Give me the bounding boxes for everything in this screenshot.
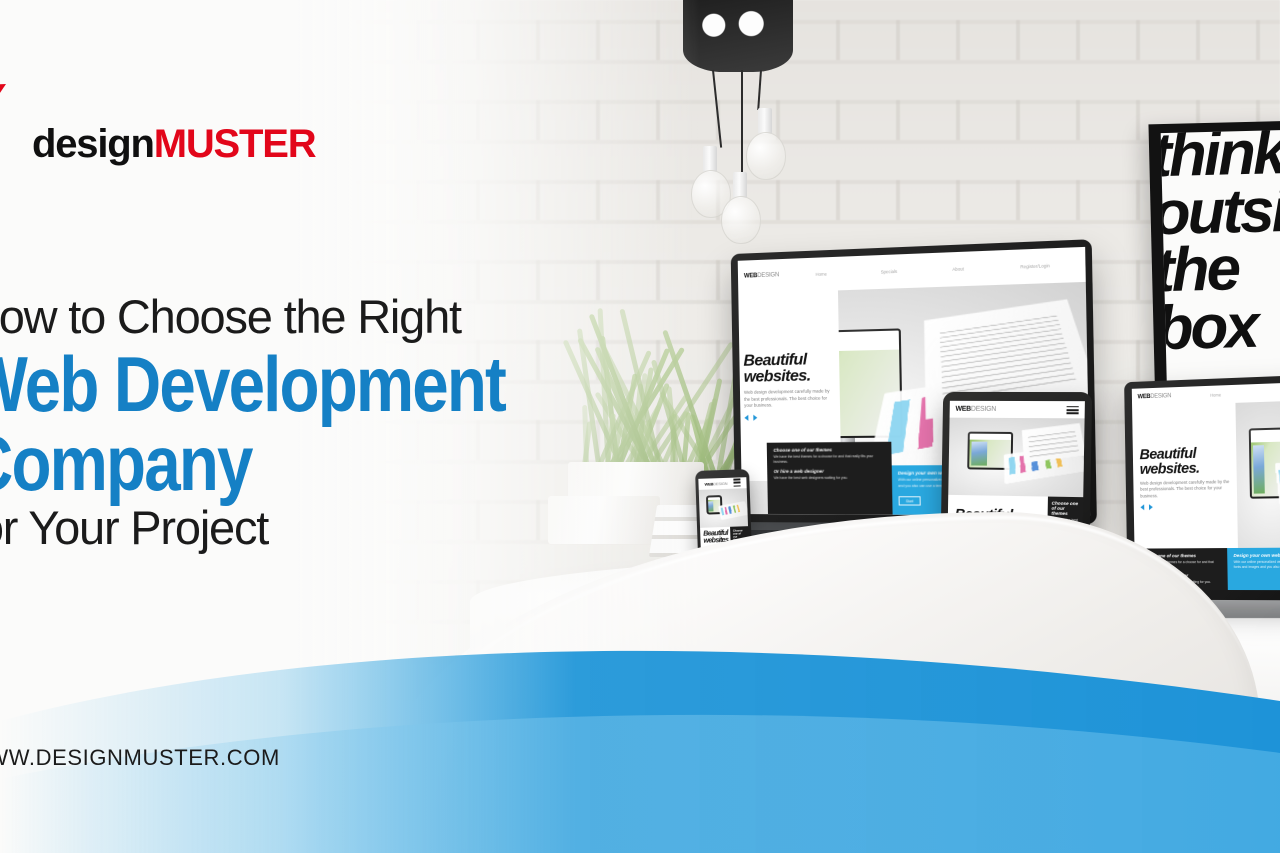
mockup-hero-image <box>1235 400 1280 548</box>
panel-dark-title-1: Choose one of our themes <box>1051 501 1079 517</box>
headline-line-1: How to Choose the Right <box>0 292 606 343</box>
arrow-right-icon[interactable] <box>753 414 757 420</box>
arrow-left-icon[interactable] <box>1140 504 1144 510</box>
arrow-right-icon[interactable] <box>1149 504 1153 510</box>
lamp-socket <box>703 146 717 172</box>
panel-cyan-title: Design your own website <box>1233 552 1280 558</box>
mockup-logo-light: DESIGN <box>971 406 996 413</box>
mockup-nav-item-specials[interactable]: Specials <box>881 269 898 275</box>
poster-line-4: box <box>1161 294 1280 358</box>
mockup-logo-bold: WEB <box>744 274 757 281</box>
mockup-nav-links: Home Specials About Register/Login <box>779 262 1079 278</box>
mockup-logo: WEBDESIGN <box>704 481 727 487</box>
mockup-panel-cyan[interactable]: Design your own website With our online … <box>1227 547 1280 590</box>
mockup-nav-item-about[interactable]: About <box>952 266 964 272</box>
panel-dark-body-2: We have the best web designers waiting f… <box>774 476 886 481</box>
mockup-body-text: Web design development carefully made by… <box>1140 479 1230 500</box>
mockup-heading-line-2: websites. <box>1140 460 1230 477</box>
ceiling-lamp-fixture <box>683 0 793 72</box>
logo-word-muster: MUSTER <box>154 122 316 166</box>
mockup-hero-image <box>699 488 748 528</box>
lamp-cord <box>741 70 743 174</box>
mockup-logo-bold: WEB <box>704 481 713 486</box>
mockup-panel-dark[interactable]: Choose one of our themes We have the bes… <box>767 442 892 516</box>
mockup-hero-text: Beautiful websites. Web design developme… <box>1132 403 1237 548</box>
headline-line-3: Company <box>0 426 504 501</box>
hero-color-swoosh <box>718 501 748 520</box>
mockup-nav-item-home[interactable]: Home <box>815 271 826 276</box>
brand-logo[interactable]: designMUSTER <box>0 82 315 168</box>
mockup-logo-light: DESIGN <box>1150 393 1171 400</box>
panel-cyan-body: With our online personalized website too… <box>1234 559 1280 570</box>
lamp-socket <box>733 172 747 198</box>
page-title: How to Choose the Right Web Development … <box>0 292 606 553</box>
mockup-heading-line-2: websites. <box>744 368 836 386</box>
mockup-logo: WEBDESIGN <box>955 406 996 413</box>
light-bulb <box>746 132 786 180</box>
panel-cyan-start-button[interactable]: Start <box>898 496 920 505</box>
mockup-nav-item-home[interactable]: Home <box>1210 392 1221 397</box>
mockup-logo-light: DESIGN <box>713 481 727 486</box>
arrow-left-icon[interactable] <box>744 414 748 420</box>
light-bulb <box>721 196 761 244</box>
brand-logo-wordmark: designMUSTER <box>32 124 315 164</box>
logo-word-design: design <box>32 122 154 166</box>
mockup-hero-image <box>948 418 1084 497</box>
hamburger-icon[interactable] <box>733 479 740 487</box>
panel-dark-body-1: We have the best themes for a choose for… <box>773 454 885 465</box>
mockup-logo-bold: WEB <box>955 406 970 413</box>
poster-line-2: outside <box>1161 179 1280 243</box>
headline-line-4: for Your Project <box>0 503 606 554</box>
panel-dark-title-1: Choose one of our themes <box>773 447 885 453</box>
article-banner: think outside the box WEB <box>0 0 1280 853</box>
mockup-nav-item-register-login[interactable]: Register/Login <box>1020 263 1050 269</box>
mockup-nav-links: Home Specials <box>1171 388 1280 399</box>
red-arrow-mark-icon <box>0 82 28 168</box>
mockup-slider-arrows[interactable] <box>744 413 836 420</box>
mockup-logo: WEBDESIGN <box>1138 393 1172 400</box>
mockup-logo: WEBDESIGN <box>744 273 779 280</box>
mockup-logo-bold: WEB <box>1138 394 1151 400</box>
poster-text: think outside the box <box>1161 129 1280 358</box>
headline-line-2: Web Development <box>0 347 504 422</box>
poster-line-3: the <box>1161 236 1280 300</box>
framed-poster: think outside the box <box>1148 120 1280 417</box>
laptop-body-row: Beautiful websites. Web design developme… <box>1132 400 1280 548</box>
mockup-slider-arrows[interactable] <box>1140 503 1230 510</box>
mockup-body-text: Web design development carefully made by… <box>744 389 836 410</box>
mockup-heading: Beautiful websites. <box>743 352 836 386</box>
mockup-navbar-tablet: WEBDESIGN <box>950 401 1085 419</box>
hamburger-icon[interactable] <box>1066 406 1078 414</box>
poster-canvas: think outside the box <box>1161 129 1280 407</box>
mockup-heading: Beautiful websites. <box>1139 445 1229 477</box>
panel-dark-title-2: Or hire a web designer <box>774 469 886 474</box>
mockup-logo-light: DESIGN <box>757 273 779 280</box>
lamp-socket <box>758 108 772 134</box>
footer-website-url[interactable]: WWW.DESIGNMUSTER.COM <box>0 745 280 771</box>
